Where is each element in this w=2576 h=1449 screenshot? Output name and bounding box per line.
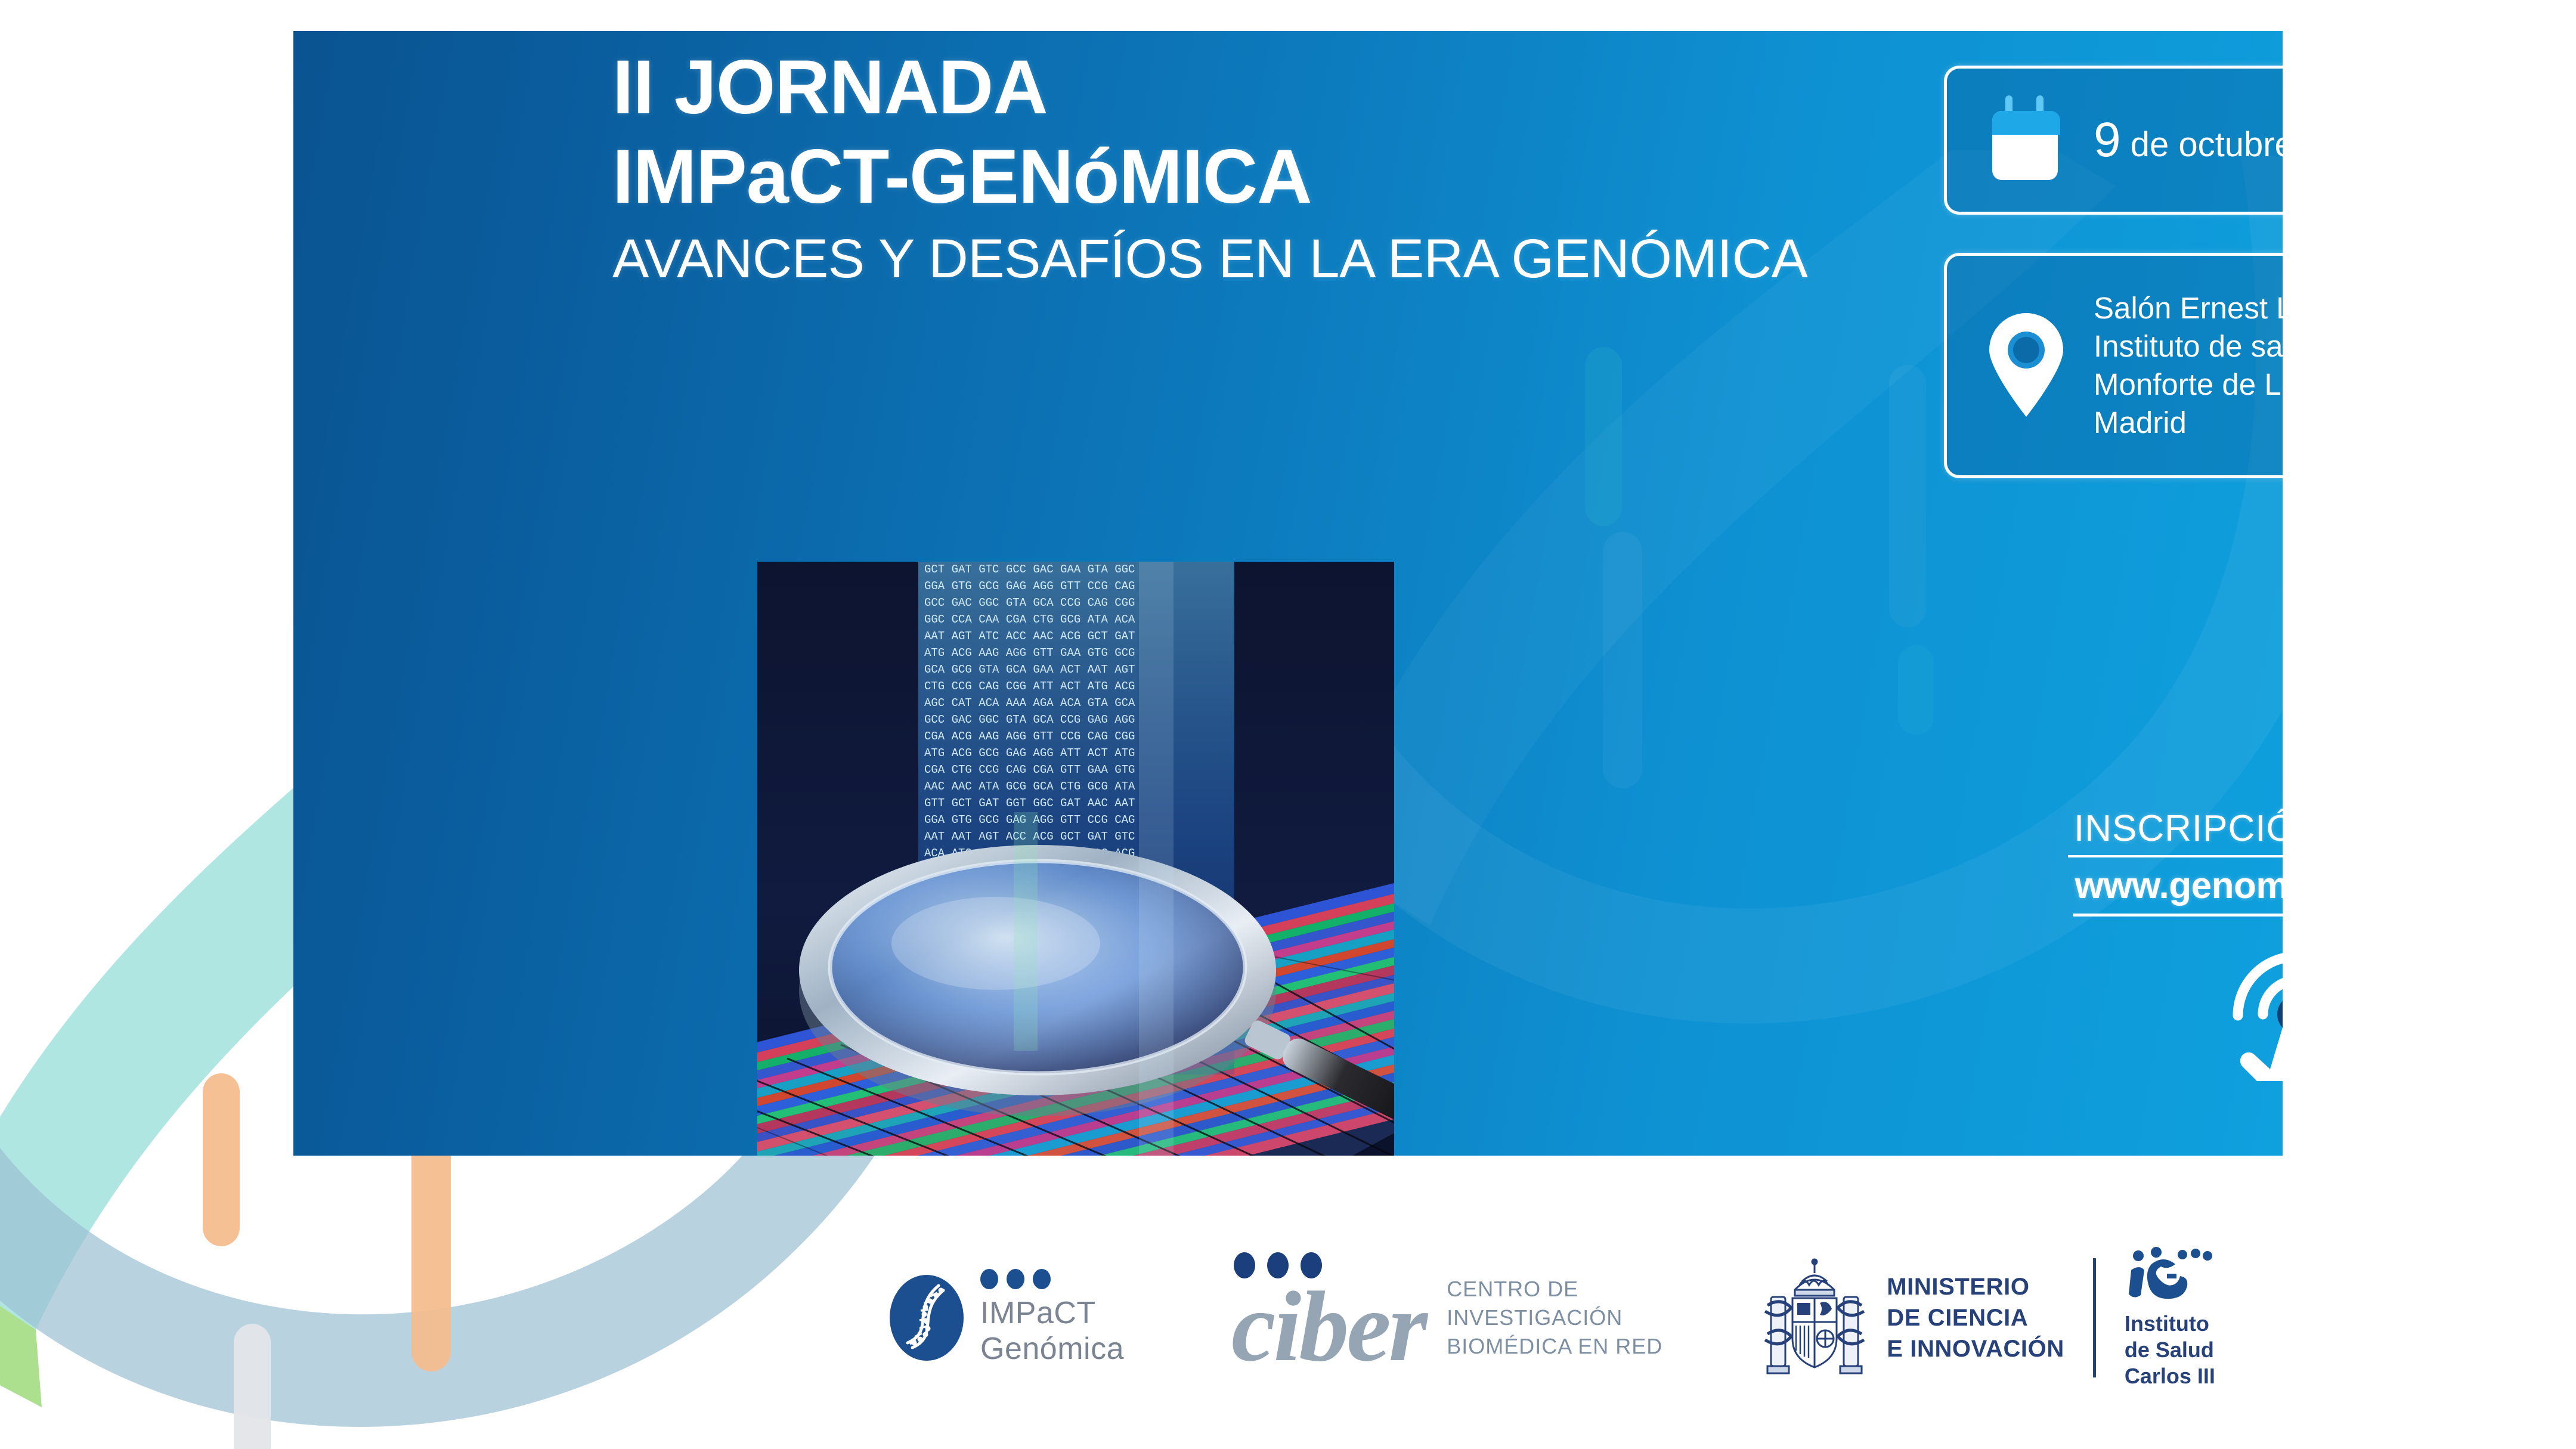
impact-subname: Genómica bbox=[980, 1331, 1124, 1367]
ciber-dots-icon bbox=[1234, 1252, 1322, 1278]
title-block: II JORNADA IMPaCT-GENóMICA AVANCES Y DES… bbox=[612, 31, 1954, 292]
venue-line-3: Monforte de Lemos 5, bbox=[2094, 366, 2283, 404]
page-title-line-1: II JORNADA bbox=[612, 43, 1954, 132]
svg-text:ATG ACG AAG AGG GTT GAA GTG GC: ATG ACG AAG AGG GTT GAA GTG GCG bbox=[924, 646, 1135, 660]
svg-text:GGA GTG GCG GAG AGG GTT CCG CA: GGA GTG GCG GAG AGG GTT CCG CAG bbox=[924, 580, 1135, 593]
venue-line-2: Instituto de salud Carlos III. bbox=[2094, 327, 2283, 366]
impact-dots-icon bbox=[980, 1269, 1124, 1289]
svg-text:AAC AAC ATA GCG GCA CTG GCG AT: AAC AAC ATA GCG GCA CTG GCG ATA bbox=[924, 780, 1135, 793]
registration-cta: INSCRIPCIÓN GRATUITA www.genomica-impact… bbox=[2023, 806, 2283, 1081]
dna-helix-circle-icon bbox=[888, 1274, 965, 1362]
svg-text:AGC CAT ACA AAA AGA ACA GTA GC: AGC CAT ACA AAA AGA ACA GTA GCA bbox=[924, 696, 1135, 710]
svg-text:AAT AGT ATC ACC AAC ACG GCT GA: AAT AGT ATC ACC AAC ACG GCT GAT bbox=[924, 630, 1135, 643]
svg-text:GGC CCA CAA CGA CTG GCG ATA AC: GGC CCA CAA CGA CTG GCG ATA ACA bbox=[924, 613, 1135, 626]
ciber-tagline-line-3: BIOMÉDICA EN RED bbox=[1447, 1332, 1662, 1361]
logo-isciii: Instituto de Salud Carlos III bbox=[2125, 1246, 2215, 1389]
isciii-line-2: de Salud bbox=[2125, 1337, 2215, 1363]
svg-text:CGA CTG CCG CAG CGA GTT GAA GT: CGA CTG CCG CAG CGA GTT GAA GTG bbox=[924, 763, 1135, 776]
ministerio-line-3: E INNOVACIÓN bbox=[1887, 1333, 2064, 1364]
magnifier-dna-microarray-image: GCT GAT GTC GCC GAC GAA GTA GGC GGA GTG … bbox=[757, 562, 1394, 1156]
spain-coat-of-arms-icon bbox=[1758, 1255, 1871, 1380]
svg-text:GCC GAC GGC GTA GCA CCG GAG AG: GCC GAC GGC GTA GCA CCG GAG AGG bbox=[924, 713, 1135, 726]
logo-ministerio: MINISTERIO DE CIENCIA E INNOVACIÓN bbox=[1758, 1255, 2064, 1380]
calendar-icon bbox=[1964, 95, 2089, 185]
venue-line-1: Salón Ernest LLuch. bbox=[2094, 289, 2283, 327]
date-month-year: de octubre de 2023 bbox=[2121, 125, 2283, 164]
svg-text:CTG CCG CAG CGG ATT ACT ATG AC: CTG CCG CAG CGG ATT ACT ATG ACG bbox=[924, 680, 1135, 693]
logo-ciber: ciber CENTRO DE INVESTIGACIÓN BIOMÉDICA … bbox=[1231, 1256, 1662, 1380]
impact-wordmark: IMPaCT Genómica bbox=[980, 1269, 1124, 1367]
registration-label: INSCRIPCIÓN GRATUITA bbox=[2068, 806, 2283, 857]
date-day-number: 9 bbox=[2094, 113, 2121, 167]
venue-card: Salón Ernest LLuch. Instituto de salud C… bbox=[1944, 253, 2283, 478]
svg-text:ATG ACG GCG GAG AGG ATT ACT AT: ATG ACG GCG GAG AGG ATT ACT ATG bbox=[924, 747, 1135, 760]
svg-text:CGA ACG AAG AGG GTT CCG CAG CG: CGA ACG AAG AGG GTT CCG CAG CGG bbox=[924, 730, 1135, 743]
page-subtitle: AVANCES Y DESAFÍOS EN LA ERA GENÓMICA bbox=[612, 225, 1954, 292]
logo-impact-genomica: IMPaCT Genómica bbox=[888, 1269, 1124, 1367]
date-text: 9 de octubre de 2023 bbox=[2094, 112, 2283, 168]
logo-divider bbox=[2093, 1258, 2096, 1377]
ciber-tagline-line-2: INVESTIGACIÓN bbox=[1447, 1304, 1662, 1332]
isciii-text: Instituto de Salud Carlos III bbox=[2125, 1311, 2215, 1389]
impact-name: IMPaCT bbox=[980, 1295, 1124, 1331]
ministerio-line-2: DE CIENCIA bbox=[1887, 1302, 2064, 1333]
isciii-line-1: Instituto bbox=[2125, 1311, 2215, 1337]
venue-line-4: Madrid bbox=[2094, 404, 2283, 442]
date-card: 9 de octubre de 2023 bbox=[1944, 66, 2283, 215]
isc-monogram-icon bbox=[2125, 1246, 2215, 1308]
poster-panel: II JORNADA IMPaCT-GENóMICA AVANCES Y DES… bbox=[293, 31, 2283, 1156]
location-pin-icon bbox=[1964, 313, 2089, 418]
svg-text:GTT GCT GAT GGT GGC GAT AAC AA: GTT GCT GAT GGT GGC GAT AAC AAT bbox=[924, 797, 1135, 810]
ciber-tagline-line-1: CENTRO DE bbox=[1447, 1275, 1662, 1304]
registration-link[interactable]: www.genomica-impact.es bbox=[2073, 862, 2283, 917]
svg-text:GCT GAT GTC GCC GAC GAA GTA GG: GCT GAT GTC GCC GAC GAA GTA GGC bbox=[924, 563, 1135, 576]
ciber-tagline: CENTRO DE INVESTIGACIÓN BIOMÉDICA EN RED bbox=[1447, 1275, 1662, 1361]
ministerio-text: MINISTERIO DE CIENCIA E INNOVACIÓN bbox=[1887, 1271, 2064, 1364]
ministerio-line-1: MINISTERIO bbox=[1887, 1271, 2064, 1302]
isciii-line-3: Carlos III bbox=[2125, 1363, 2215, 1389]
svg-text:GCC GAC GGC GTA GCA CCG CAG CG: GCC GAC GGC GTA GCA CCG CAG CGG bbox=[924, 596, 1135, 609]
tap-click-icon[interactable] bbox=[2023, 944, 2283, 1081]
svg-text:GCA GCG GTA GCA GAA ACT AAT AG: GCA GCG GTA GCA GAA ACT AAT AGT bbox=[924, 663, 1135, 676]
page-title-line-2: IMPaCT-GENóMICA bbox=[612, 132, 1954, 222]
ciber-wordmark: ciber bbox=[1231, 1256, 1425, 1380]
venue-address: Salón Ernest LLuch. Instituto de salud C… bbox=[2094, 289, 2283, 442]
footer-logos: IMPaCT Genómica ciber CENTRO DE INVESTIG… bbox=[853, 1228, 2332, 1407]
